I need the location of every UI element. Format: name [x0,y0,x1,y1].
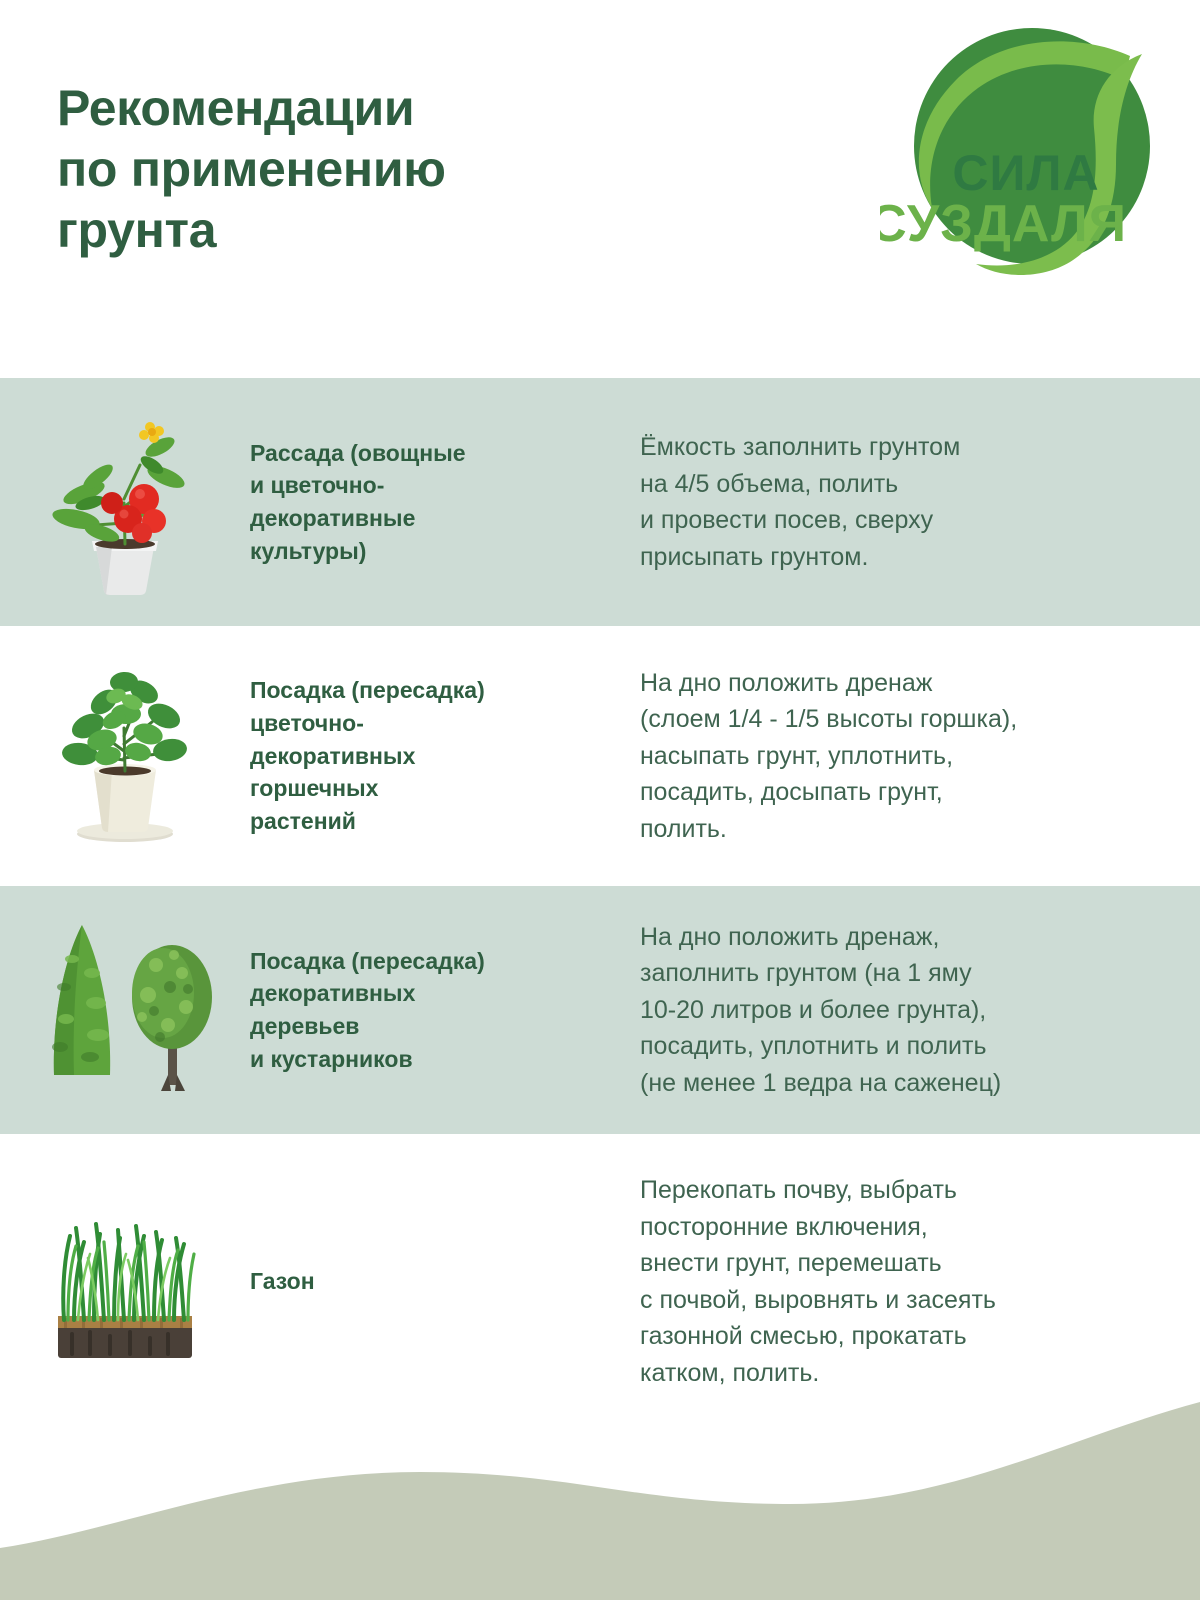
row-description: На дно положить дренаж, заполнить грунто… [640,919,1200,1102]
bottom-wave-decoration [0,1380,1200,1600]
table-row: Посадка (пересадка) декоративных деревье… [0,886,1200,1134]
row-title: Рассада (овощные и цветочно- декоративны… [250,437,640,568]
row-description: На дно положить дренаж (слоем 1/4 - 1/5 … [640,665,1200,848]
row-title: Газон [250,1265,640,1298]
row-image-cell [0,626,250,886]
row-image-cell [0,378,250,626]
row-description: Ёмкость заполнить грунтом на 4/5 объема,… [640,429,1200,575]
logo-text-line2: СУЗДАЛЯ [880,195,1127,253]
row-title: Посадка (пересадка) декоративных деревье… [250,945,640,1076]
lawn-grass-turf-block-icon [30,1192,220,1372]
page-title: Рекомендации по применению грунта [57,78,446,261]
potted-houseplant-icon [40,656,210,856]
brand-logo: СИЛА СУЗДАЛЯ [880,18,1170,288]
row-image-cell [0,886,250,1134]
recommendations-table: Рассада (овощные и цветочно- декоративны… [0,378,1200,1429]
row-description: Перекопать почву, выбрать посторонние вк… [640,1172,1200,1391]
page-header: Рекомендации по применению грунта СИЛА С… [0,0,1200,378]
table-row: Посадка (пересадка) цветочно- декоративн… [0,626,1200,886]
infographic-page: Рекомендации по применению грунта СИЛА С… [0,0,1200,1600]
row-title: Посадка (пересадка) цветочно- декоративн… [250,674,640,837]
logo-text-line1: СИЛА [952,145,1099,201]
logo-mark: СИЛА СУЗДАЛЯ [880,18,1170,288]
ornamental-trees-and-shrubs-icon [30,915,220,1105]
table-row: Рассада (овощные и цветочно- декоративны… [0,378,1200,626]
tomato-seedling-in-pot-icon [40,407,210,597]
